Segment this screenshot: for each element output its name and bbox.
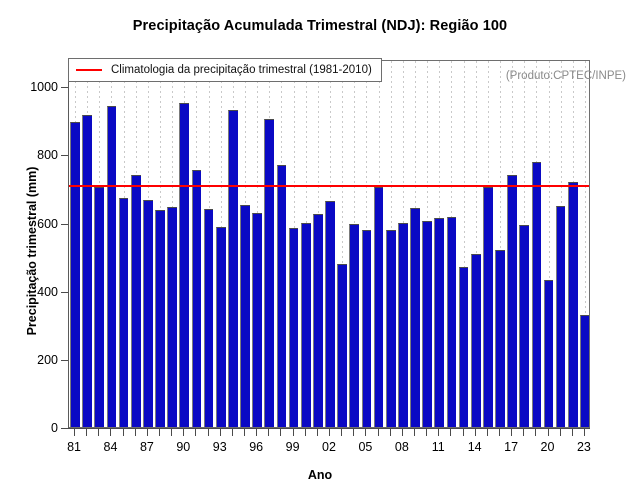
x-axis-tick — [365, 429, 366, 436]
x-axis-tick-label: 99 — [286, 440, 300, 454]
chart-root: Precipitação Acumulada Trimestral (NDJ):… — [0, 0, 640, 500]
bar — [277, 165, 287, 427]
bar — [119, 198, 129, 427]
x-axis-tick — [463, 429, 464, 436]
x-axis-tick — [572, 429, 573, 436]
bar — [580, 315, 589, 427]
bar — [179, 103, 189, 427]
x-axis-tick — [98, 429, 99, 436]
x-axis-tick — [244, 429, 245, 436]
bar — [204, 209, 214, 427]
x-axis-tick — [74, 429, 75, 436]
bar — [313, 214, 323, 427]
x-axis-tick — [317, 429, 318, 436]
x-axis-tick — [499, 429, 500, 436]
x-axis-tick-label: 87 — [140, 440, 154, 454]
x-axis-tick — [353, 429, 354, 436]
x-axis-tick — [232, 429, 233, 436]
bar — [507, 175, 517, 427]
x-axis-tick-label: 81 — [67, 440, 81, 454]
x-axis-tick — [584, 429, 585, 436]
bar — [82, 115, 92, 427]
x-axis-tick — [183, 429, 184, 436]
x-axis-tick-label: 11 — [432, 440, 445, 454]
x-axis-tick — [487, 429, 488, 436]
plot-area — [68, 60, 590, 428]
bar — [471, 254, 481, 427]
x-axis-tick — [402, 429, 403, 436]
x-axis-tick — [195, 429, 196, 436]
x-axis-tick — [438, 429, 439, 436]
x-axis-tick — [414, 429, 415, 436]
x-axis-tick — [280, 429, 281, 436]
bar — [410, 208, 420, 427]
x-axis-tick — [171, 429, 172, 436]
bar — [94, 187, 104, 427]
x-axis-tick — [256, 429, 257, 436]
x-axis-tick-label: 08 — [395, 440, 409, 454]
x-axis-tick — [475, 429, 476, 436]
x-axis-tick — [293, 429, 294, 436]
y-axis-tick — [61, 155, 68, 156]
x-axis-tick — [159, 429, 160, 436]
page-title: Precipitação Acumulada Trimestral (NDJ):… — [0, 18, 640, 34]
legend-line-swatch-icon — [76, 69, 102, 71]
bar — [143, 200, 153, 427]
x-axis-tick — [511, 429, 512, 436]
bar — [349, 224, 359, 427]
x-axis-tick-label: 23 — [577, 440, 591, 454]
bar — [483, 187, 493, 427]
x-axis-tick — [147, 429, 148, 436]
bar — [362, 230, 372, 427]
x-axis-tick-label: 02 — [322, 440, 336, 454]
y-axis-tick — [61, 87, 68, 88]
bar — [70, 122, 80, 427]
bar — [568, 182, 578, 427]
x-axis-tick-label: 20 — [541, 440, 555, 454]
x-axis-tick — [378, 429, 379, 436]
x-axis-tick — [135, 429, 136, 436]
x-axis-tick-label: 05 — [358, 440, 372, 454]
y-axis-tick — [61, 224, 68, 225]
x-axis-tick — [329, 429, 330, 436]
bar — [337, 264, 347, 427]
x-axis-tick — [548, 429, 549, 436]
x-axis-tick-label: 14 — [468, 440, 482, 454]
y-axis-tick — [61, 428, 68, 429]
x-axis-tick — [390, 429, 391, 436]
bar — [252, 213, 262, 427]
climatology-reference-line — [69, 185, 589, 187]
x-axis-tick — [110, 429, 111, 436]
bar — [495, 250, 505, 427]
bar — [556, 206, 566, 427]
x-axis-tick-label: 90 — [176, 440, 190, 454]
bar — [386, 230, 396, 427]
bar — [216, 227, 226, 427]
bar — [131, 175, 141, 427]
y-axis-tick-label: 0 — [10, 421, 58, 435]
x-axis-tick — [450, 429, 451, 436]
x-axis-tick-label: 84 — [104, 440, 118, 454]
bar — [264, 119, 274, 427]
bar — [519, 225, 529, 427]
x-axis-tick-label: 96 — [249, 440, 263, 454]
x-axis-tick — [535, 429, 536, 436]
bar — [422, 221, 432, 427]
bar — [240, 205, 250, 427]
bar — [301, 223, 311, 427]
x-axis-tick — [560, 429, 561, 436]
x-axis-tick — [341, 429, 342, 436]
x-axis-tick — [123, 429, 124, 436]
x-axis-tick — [426, 429, 427, 436]
bar — [447, 217, 457, 427]
x-axis-tick — [208, 429, 209, 436]
y-axis-tick-label: 1000 — [10, 80, 58, 94]
bar — [434, 218, 444, 427]
product-credit: (Produto:CPTEC/INPE) — [506, 70, 626, 82]
bar — [532, 162, 542, 427]
y-axis-tick — [61, 360, 68, 361]
x-axis-tick — [268, 429, 269, 436]
bar — [192, 170, 202, 427]
bar — [459, 267, 469, 427]
y-axis-tick — [61, 292, 68, 293]
legend-label: Climatologia da precipitação trimestral … — [111, 64, 372, 76]
bar — [544, 280, 554, 427]
bar — [325, 201, 335, 427]
y-axis-title: Precipitação trimestral (mm) — [25, 101, 39, 401]
x-axis-tick — [86, 429, 87, 436]
bar — [155, 210, 165, 427]
bar — [289, 228, 299, 427]
x-axis-tick-label: 17 — [504, 440, 518, 454]
x-axis-tick — [305, 429, 306, 436]
bar — [107, 106, 117, 427]
y-axis-line — [68, 60, 69, 428]
x-axis-tick — [220, 429, 221, 436]
plot-inner — [69, 61, 589, 427]
x-axis-tick-label: 93 — [213, 440, 227, 454]
bar — [374, 187, 384, 427]
legend[interactable]: Climatologia da precipitação trimestral … — [68, 58, 382, 82]
bar — [228, 110, 238, 427]
bar — [167, 207, 177, 427]
x-axis-title: Ano — [0, 468, 640, 482]
x-axis-tick — [523, 429, 524, 436]
bar — [398, 223, 408, 427]
